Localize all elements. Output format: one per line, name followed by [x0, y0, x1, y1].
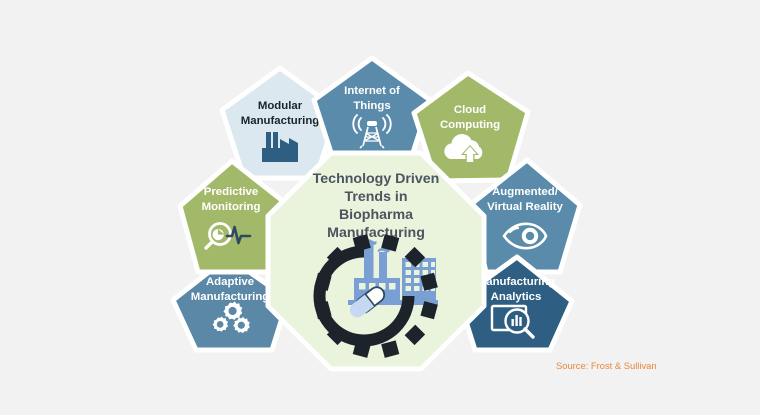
center-title-line4: Manufacturing: [327, 225, 425, 241]
node-label-augmented-virtual-reality-line2: Virtual Reality: [487, 201, 563, 213]
node-label-internet-of-things: Internet of: [344, 85, 400, 97]
node-label-cloud-computing-line2: Computing: [440, 119, 500, 131]
biopharma-technology-trends-infographic: Modular Manufacturing Internet of Things: [0, 0, 760, 415]
node-label-adaptive-manufacturing-line2: Manufacturing: [191, 291, 270, 303]
node-label-predictive-monitoring: Predictive: [204, 186, 258, 198]
node-label-modular-manufacturing-line2: Manufacturing: [241, 115, 320, 127]
node-label-cloud-computing: Cloud: [454, 104, 486, 116]
node-label-manufacturing-analytics-line2: Analytics: [491, 291, 542, 303]
center-title-line3: Biopharma: [339, 207, 413, 223]
node-label-manufacturing-analytics: Manufacturing: [477, 276, 556, 288]
node-label-predictive-monitoring-line2: Monitoring: [202, 201, 261, 213]
center-title-line1: Technology Driven: [313, 171, 440, 187]
node-label-adaptive-manufacturing: Adaptive: [206, 276, 254, 288]
node-label-modular-manufacturing: Modular: [258, 100, 303, 112]
center-title-line2: Trends in: [344, 189, 407, 205]
node-label-augmented-virtual-reality: Augmented/: [492, 186, 559, 198]
node-label-internet-of-things-line2: Things: [353, 100, 390, 112]
center-hub[interactable]: Technology Driven Trends in Biopharma Ma…: [268, 153, 484, 369]
source-note: Source: Frost & Sullivan: [556, 360, 657, 371]
